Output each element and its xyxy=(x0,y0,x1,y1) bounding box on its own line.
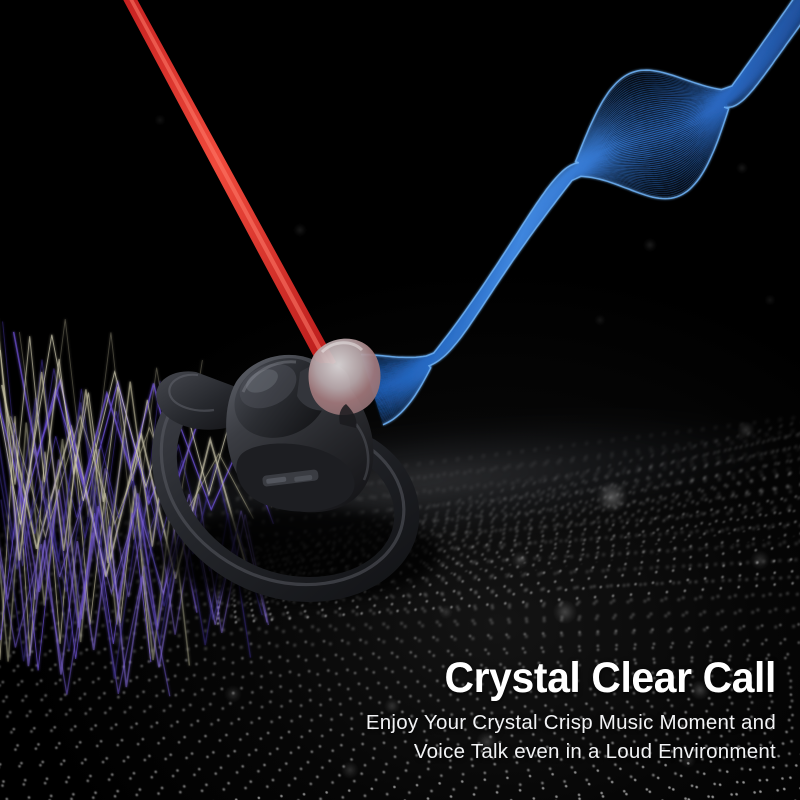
subtitle-line-1: Enjoy Your Crystal Crisp Music Moment an… xyxy=(156,709,776,737)
promo-banner: Crystal Clear Call Enjoy Your Crystal Cr… xyxy=(0,0,800,800)
subtitle-line-2: Voice Talk even in a Loud Environment xyxy=(156,738,776,766)
page-title: Crystal Clear Call xyxy=(187,657,776,701)
promo-copy: Crystal Clear Call Enjoy Your Crystal Cr… xyxy=(156,657,776,766)
